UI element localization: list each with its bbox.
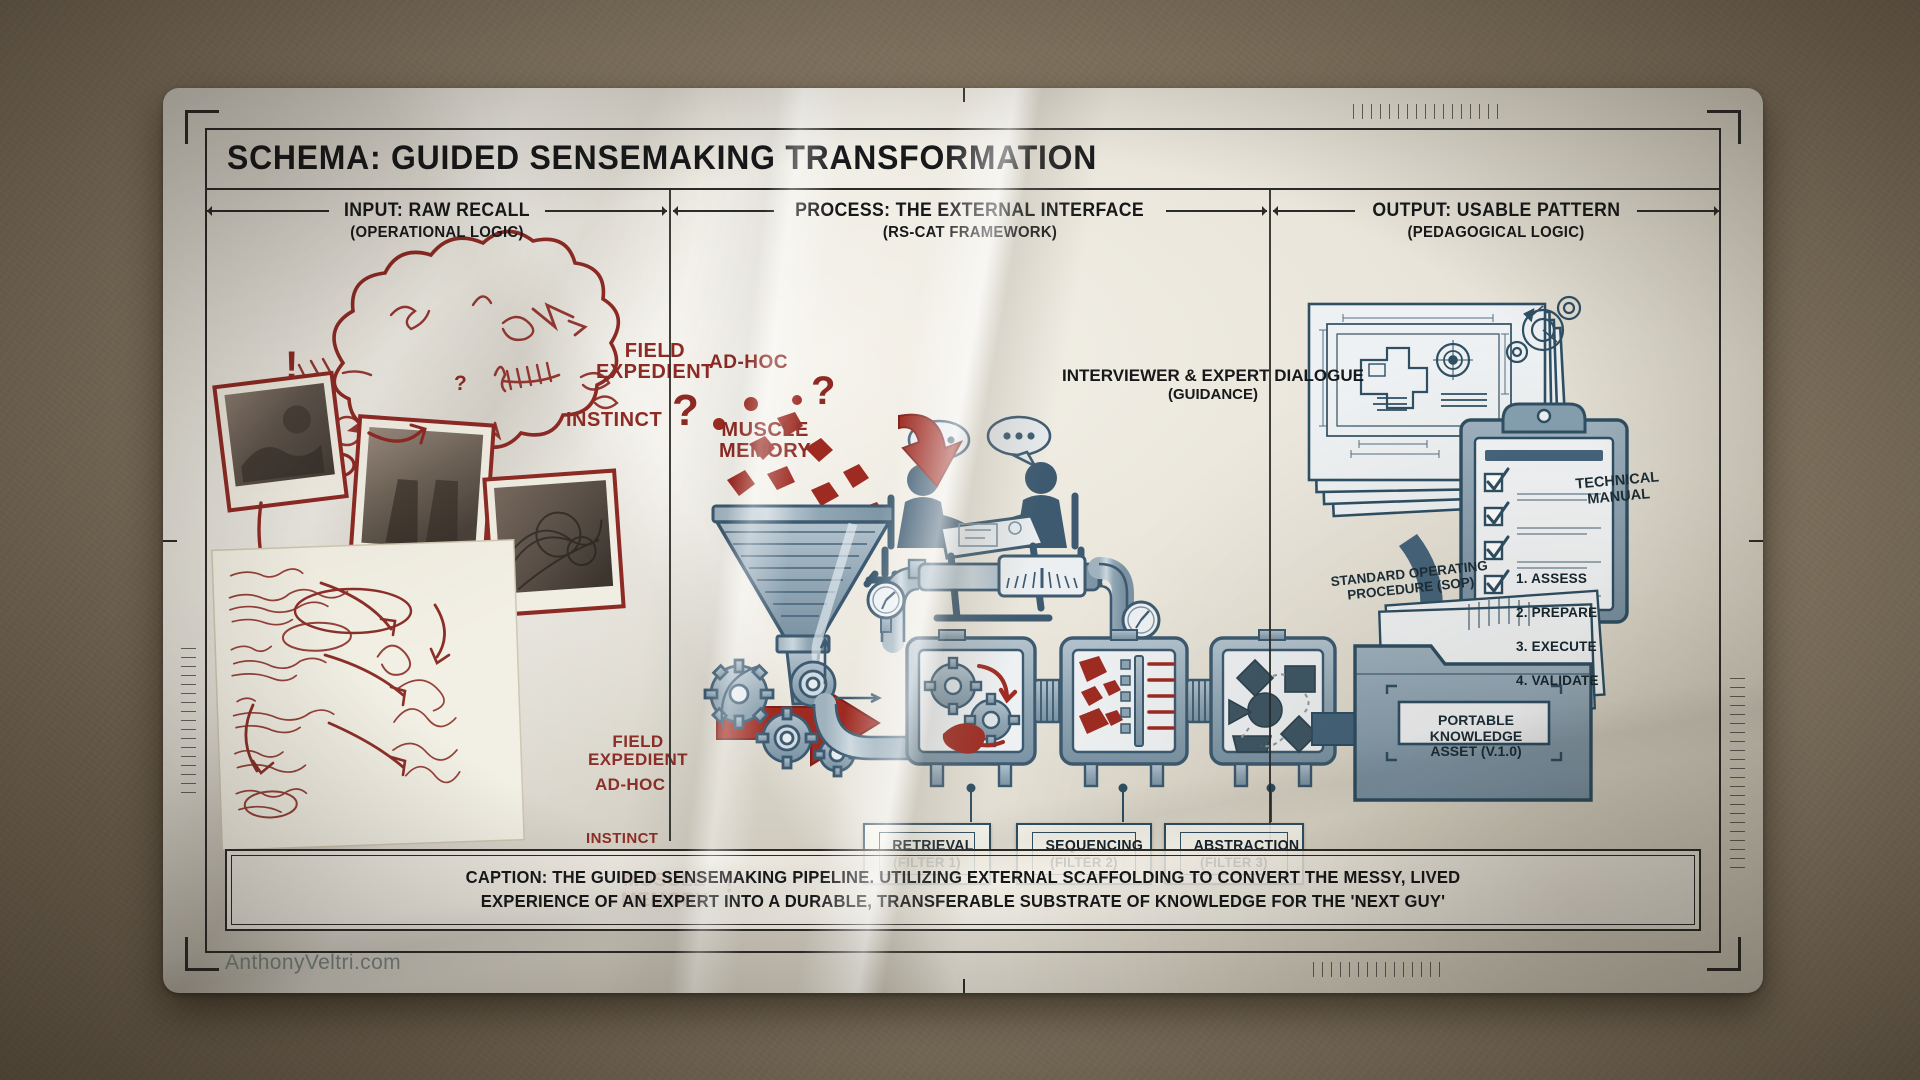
title-bar: SCHEMA: GUIDED SENSEMAKING TRANSFORMATIO… <box>205 128 1721 190</box>
schema-poster: SCHEMA: GUIDED SENSEMAKING TRANSFORMATIO… <box>163 88 1763 993</box>
caption-box: CAPTION: THE GUIDED SENSEMAKING PIPELINE… <box>225 849 1701 931</box>
checklist-item-1[interactable]: 1. ASSESS <box>1516 571 1587 586</box>
checklist-item-4[interactable]: 4. VALIDATE <box>1516 673 1599 688</box>
column-separator-2 <box>1269 190 1271 841</box>
caption-line-2: EXPERIENCE OF AN EXPERT INTO A DURABLE, … <box>282 889 1644 913</box>
watermark: AnthonyVeltri.com <box>225 951 401 975</box>
ruler-scale-right <box>1730 678 1745 868</box>
page-title: SCHEMA: GUIDED SENSEMAKING TRANSFORMATIO… <box>227 139 1097 178</box>
caption-line-1: CAPTION: THE GUIDED SENSEMAKING PIPELINE… <box>282 865 1644 889</box>
checklist-item-2[interactable]: 2. PREPARE <box>1516 605 1597 620</box>
section-header-process: PROCESS: THE EXTERNAL INTERFACE (RS-CAT … <box>673 200 1267 242</box>
registration-tick-bottom <box>963 979 965 993</box>
section-sublabel-output: (PEDAGOGICAL LOGIC) <box>1289 224 1704 242</box>
section-label-output: OUTPUT: USABLE PATTERN <box>1372 200 1620 222</box>
ruler-scale-top <box>1353 104 1503 119</box>
corner-bracket-top-left <box>185 110 219 144</box>
section-header-input: INPUT: RAW RECALL (OPERATIONAL LOGIC) <box>207 200 667 242</box>
dialogue-label: INTERVIEWER & EXPERT DIALOGUE <box>1023 366 1403 386</box>
registration-tick-left <box>163 540 177 542</box>
section-sublabel-process: (RS-CAT FRAMEWORK) <box>694 224 1246 242</box>
ruler-scale-left <box>181 648 196 798</box>
corner-bracket-bottom-right <box>1707 937 1741 971</box>
section-sublabel-input: (OPERATIONAL LOGIC) <box>223 224 651 242</box>
registration-tick-right <box>1749 540 1763 542</box>
section-label-input: INPUT: RAW RECALL <box>344 200 530 222</box>
ruler-scale-bottom <box>1313 962 1443 977</box>
registration-tick-top <box>963 88 965 102</box>
corner-bracket-top-right <box>1707 110 1741 144</box>
checklist-item-3[interactable]: 3. EXECUTE <box>1516 639 1597 654</box>
section-header-output: OUTPUT: USABLE PATTERN (PEDAGOGICAL LOGI… <box>1273 200 1719 242</box>
dialogue-sublabel: (GUIDANCE) <box>1023 386 1403 403</box>
section-label-process: PROCESS: THE EXTERNAL INTERFACE <box>796 200 1145 222</box>
corner-bracket-bottom-left <box>185 937 219 971</box>
column-separator-1 <box>669 190 671 841</box>
portable-knowledge-asset-label: PORTABLE KNOWLEDGEASSET (V.1.0) <box>1403 713 1549 760</box>
